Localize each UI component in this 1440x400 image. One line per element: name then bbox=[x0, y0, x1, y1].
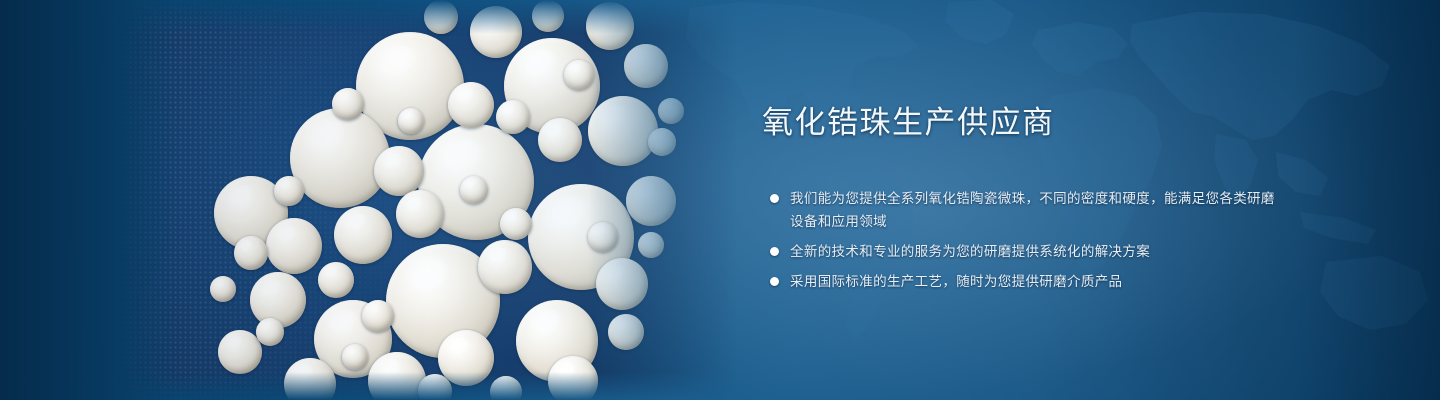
bead bbox=[624, 44, 668, 88]
bead bbox=[210, 276, 236, 302]
feature-list: 我们能为您提供全系列氧化锆陶瓷微珠，不同的密度和硬度，能满足您各类研磨设备和应用… bbox=[762, 187, 1282, 294]
bead bbox=[532, 0, 564, 32]
bead bbox=[234, 236, 268, 270]
bead bbox=[318, 262, 354, 298]
bead bbox=[470, 6, 522, 58]
list-item: 采用国际标准的生产工艺，随时为您提供研磨介质产品 bbox=[762, 270, 1282, 293]
bead bbox=[274, 176, 304, 206]
bead bbox=[396, 190, 444, 238]
bead bbox=[596, 258, 648, 310]
bead bbox=[448, 82, 494, 128]
bead bbox=[638, 232, 664, 258]
banner-copy: 氧化锆珠生产供应商 我们能为您提供全系列氧化锆陶瓷微珠，不同的密度和硬度，能满足… bbox=[762, 104, 1282, 294]
bead bbox=[548, 356, 598, 400]
bead bbox=[538, 118, 582, 162]
bead bbox=[496, 100, 530, 134]
bead bbox=[218, 330, 262, 374]
bead bbox=[608, 314, 644, 350]
bead bbox=[374, 146, 424, 196]
bead bbox=[460, 176, 488, 204]
bullet-dot-icon bbox=[770, 277, 779, 286]
bead bbox=[424, 0, 458, 34]
continent-greenland bbox=[946, 0, 1014, 44]
list-item-label: 我们能为您提供全系列氧化锆陶瓷微珠，不同的密度和硬度，能满足您各类研磨设备和应用… bbox=[790, 191, 1275, 229]
island-indonesia bbox=[1300, 212, 1376, 244]
list-item-label: 全新的技术和专业的服务为您的研磨提供系统化的解决方案 bbox=[790, 244, 1150, 259]
bead bbox=[332, 88, 364, 120]
bead bbox=[588, 96, 658, 166]
bead bbox=[266, 218, 322, 274]
bullet-dot-icon bbox=[770, 194, 779, 203]
bead bbox=[334, 206, 392, 264]
hero-banner: 氧化锆珠生产供应商 我们能为您提供全系列氧化锆陶瓷微珠，不同的密度和硬度，能满足… bbox=[0, 0, 1440, 400]
continent-europe bbox=[1032, 22, 1128, 76]
bead bbox=[290, 108, 390, 208]
bead bbox=[564, 60, 594, 90]
bead bbox=[362, 300, 394, 332]
list-item-label: 采用国际标准的生产工艺，随时为您提供研磨介质产品 bbox=[790, 274, 1122, 289]
bead bbox=[658, 98, 684, 124]
bead bbox=[398, 108, 424, 134]
bead bbox=[256, 318, 284, 346]
bead bbox=[490, 376, 522, 400]
bead bbox=[418, 374, 452, 400]
continent-southeast-asia bbox=[1276, 152, 1328, 196]
list-item: 全新的技术和专业的服务为您的研磨提供系统化的解决方案 bbox=[762, 240, 1282, 263]
bead bbox=[626, 176, 676, 226]
bead bbox=[500, 208, 532, 240]
bead bbox=[586, 2, 634, 50]
list-item: 我们能为您提供全系列氧化锆陶瓷微珠，不同的密度和硬度，能满足您各类研磨设备和应用… bbox=[762, 187, 1282, 233]
continent-australia bbox=[1320, 256, 1428, 330]
bead bbox=[478, 240, 532, 294]
bullet-dot-icon bbox=[770, 247, 779, 256]
bead bbox=[342, 344, 368, 370]
bead bbox=[648, 128, 676, 156]
zirconia-beads-photo bbox=[118, 0, 738, 400]
page-title: 氧化锆珠生产供应商 bbox=[762, 104, 1282, 143]
bead bbox=[588, 222, 618, 252]
